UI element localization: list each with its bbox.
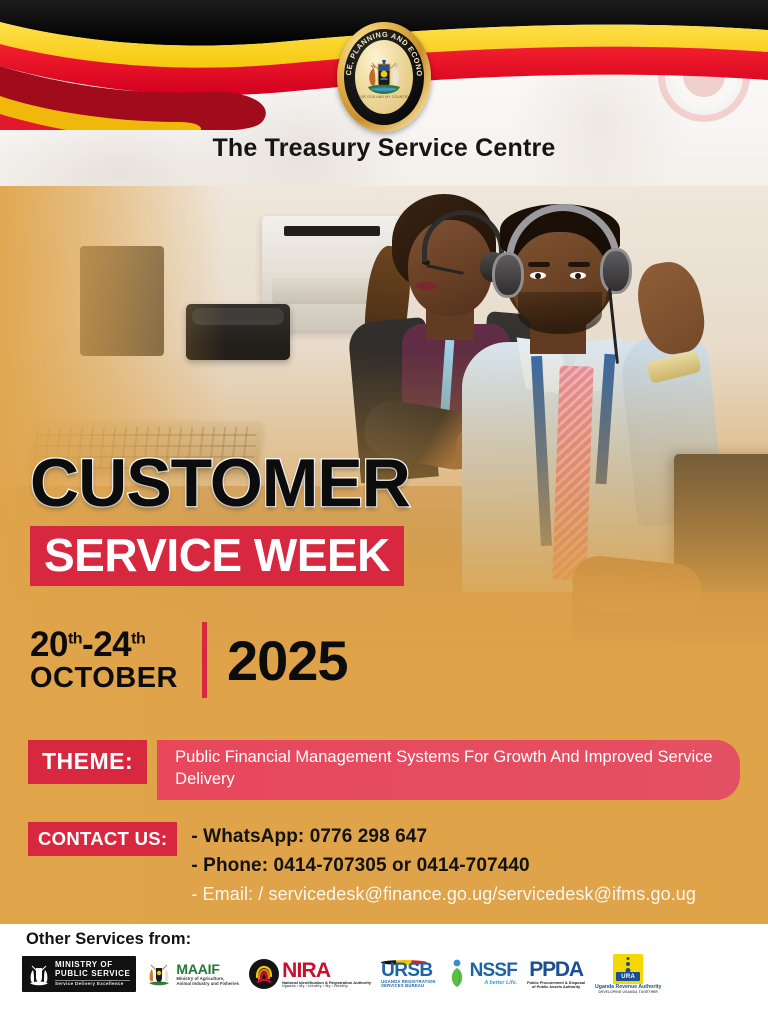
logo-ursb: URSB UGANDA REGISTRATION SERVICES BUREAU <box>381 960 436 989</box>
logo-ministry-of-public-service: MINISTRY OF PUBLIC SERVICE Service Deliv… <box>22 956 136 992</box>
coat-of-arms-icon <box>28 960 50 988</box>
coat-of-arms-icon <box>146 959 172 989</box>
contact-phone[interactable]: - Phone: 0414-707305 or 0414-707440 <box>191 851 696 880</box>
footer-logo-row: MINISTRY OF PUBLIC SERVICE Service Deliv… <box>22 954 758 994</box>
seal-ring-text: MINISTRY OF FINANCE, PLANNING AND ECONOM… <box>337 22 431 132</box>
logo-ura: URA Uganda Revenue Authority DEVELOPING … <box>595 954 661 994</box>
nira-acronym: NIRA <box>282 960 371 981</box>
theme-text: Public Financial Management Systems For … <box>157 740 740 800</box>
ppda-line3: of Public Assets Authority <box>527 985 585 989</box>
nssf-acronym: NSSF <box>470 961 517 981</box>
date-year: 2025 <box>227 628 348 693</box>
contact-label: CONTACT US: <box>28 822 177 856</box>
ura-mark-icon: URA <box>613 954 643 984</box>
footer: Other Services from: MINISTRY OF PUBLIC … <box>0 924 768 1024</box>
title-banner-service-week: SERVICE WEEK <box>30 526 404 586</box>
ppda-acronym: PPDA <box>527 959 585 980</box>
title-line-service-week: SERVICE WEEK <box>44 532 390 578</box>
main-title-block: CUSTOMER SERVICE WEEK <box>30 452 410 586</box>
date-divider <box>202 622 207 698</box>
page-title: The Treasury Service Centre <box>0 134 768 163</box>
poster-root: FOR GOD AND MY COUNTRY MINISTRY OF FINAN… <box>0 0 768 1024</box>
logo-nssf: NSSF A better Life. <box>446 959 517 989</box>
maaif-line3: Animal Industry and Fisheries <box>176 982 239 987</box>
theme-block: THEME: Public Financial Management Syste… <box>28 740 740 800</box>
logo-ppda: PPDA Public Procurement & Disposal of Pu… <box>527 959 585 988</box>
ura-line2: DEVELOPING UGANDA TOGETHER <box>595 991 661 995</box>
ministry-seal-icon: FOR GOD AND MY COUNTRY MINISTRY OF FINAN… <box>337 22 431 132</box>
ura-badge: URA <box>616 972 640 981</box>
logo-nira: NIRA National Identification & Registrat… <box>249 959 371 989</box>
mops-line2: PUBLIC SERVICE <box>55 970 130 978</box>
ursb-acronym: URSB <box>381 961 436 980</box>
logo-maaif: MAAIF Ministry of Agriculture, Animal In… <box>146 959 239 989</box>
date-range: 20th-24th <box>30 627 178 662</box>
ursb-line3: SERVICES BUREAU <box>381 984 436 988</box>
contact-lines: - WhatsApp: 0776 298 647 - Phone: 0414-7… <box>191 822 696 909</box>
mops-tagline: Service Delivery Excellence <box>55 982 130 987</box>
footer-title: Other Services from: <box>26 930 191 949</box>
nira-line3: Uganda • My • Identity • My • Identity <box>282 985 371 988</box>
contact-block: CONTACT US: - WhatsApp: 0776 298 647 - P… <box>28 822 696 909</box>
maaif-acronym: MAAIF <box>176 962 239 977</box>
nssf-leaf-icon <box>446 959 468 989</box>
date-month: OCTOBER <box>30 664 178 693</box>
svg-text:MINISTRY OF FINANCE, PLANNING: MINISTRY OF FINANCE, PLANNING AND ECONOM… <box>337 22 424 77</box>
contact-whatsapp[interactable]: - WhatsApp: 0776 298 647 <box>191 822 696 851</box>
title-line-customer: CUSTOMER <box>30 452 410 516</box>
fingerprint-icon <box>249 959 279 989</box>
contact-email[interactable]: - Email: / servicedesk@finance.go.ug/ser… <box>191 881 696 909</box>
theme-label: THEME: <box>28 740 147 784</box>
nssf-tagline: A better Life. <box>470 981 517 987</box>
event-date-block: 20th-24th OCTOBER 2025 <box>30 622 348 698</box>
